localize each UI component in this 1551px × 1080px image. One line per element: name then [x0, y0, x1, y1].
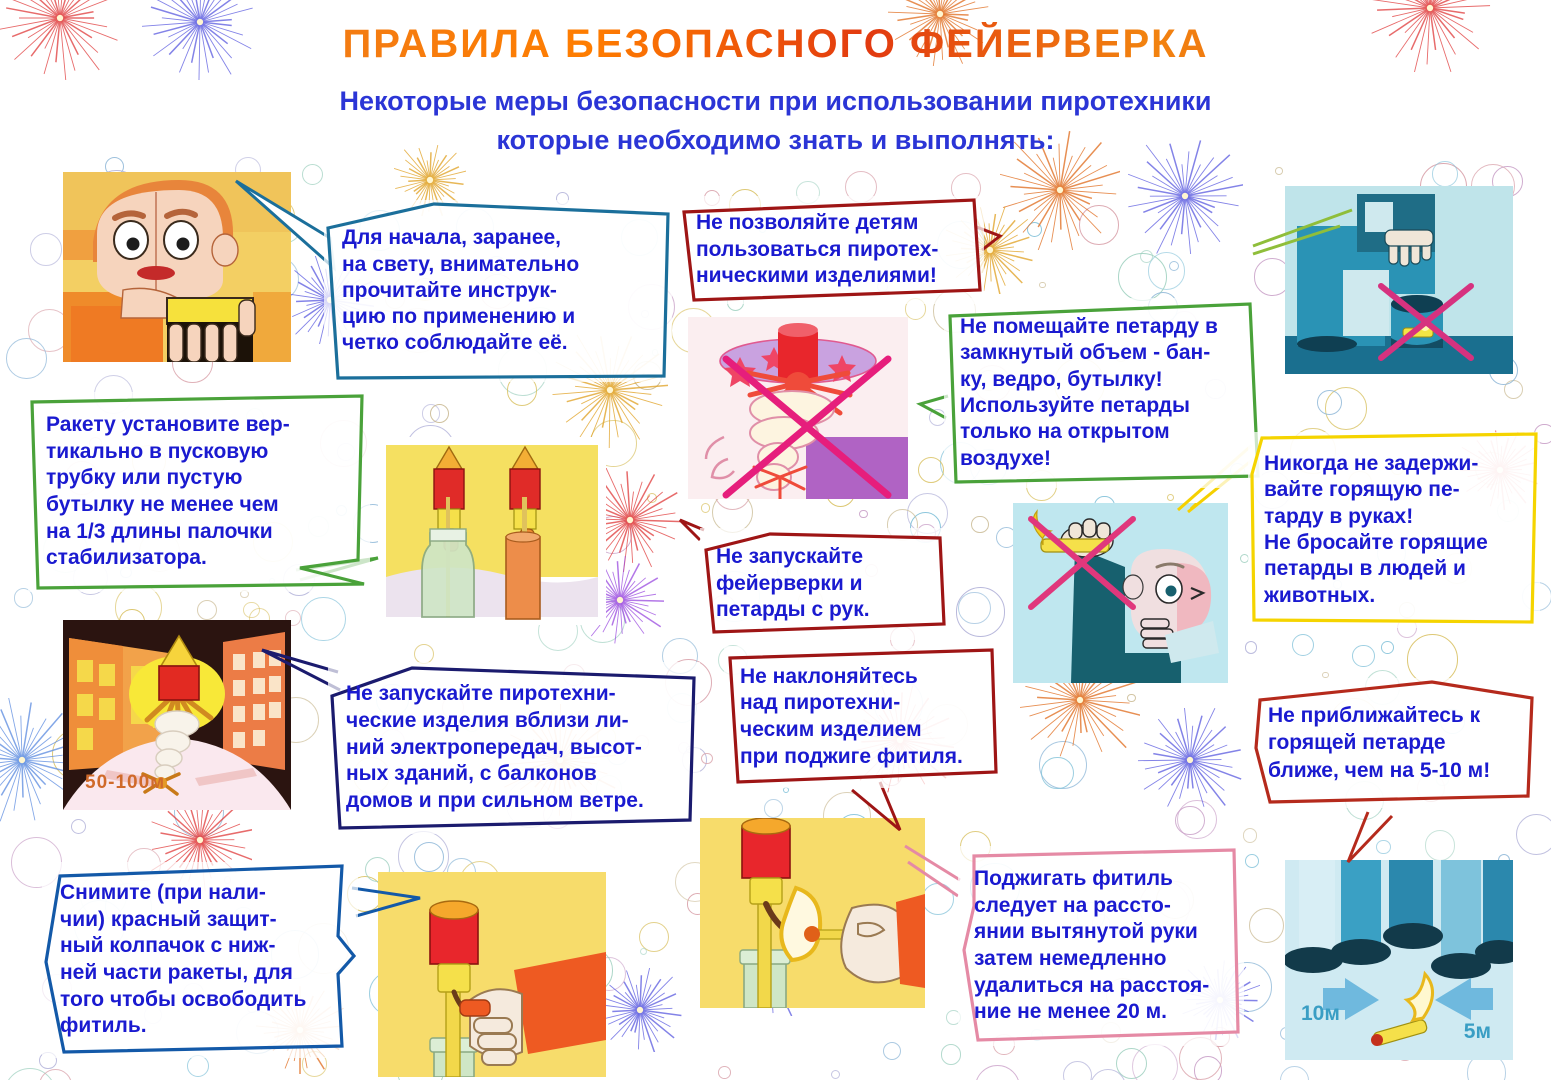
page-title: ПРАВИЛА БЕЗОПАСНОГО ФЕЙЕРВЕРКА	[0, 22, 1551, 67]
bubble-light-at-arms-length: Поджигать фитиль следует на рассто- янии…	[958, 846, 1244, 1046]
bubble-light-at-arms-length-text: Поджигать фитиль следует на рассто- янии…	[974, 866, 1228, 1026]
subtitle-line-1: Некоторые меры безопасности при использо…	[0, 82, 1551, 121]
bubble-rocket-vertical-text: Ракету установите вер- тикально в пусков…	[46, 412, 352, 572]
bubble-keep-distance: Не приближайтесь к горящей петарде ближе…	[1252, 678, 1538, 808]
bubble-rocket-vertical: Ракету установите вер- тикально в пусков…	[28, 392, 370, 592]
bubble-dont-lean-over-text: Не наклоняйтесь над пиротехни- ческим из…	[740, 664, 984, 771]
subtitle-line-2: которые необходимо знать и выполнять:	[0, 121, 1551, 160]
bubble-no-closed-container-text: Не помещайте петарду в замкнутый объем -…	[960, 314, 1246, 473]
bubble-never-hold-burning-text: Никогда не задержи- вайте горящую пе- та…	[1264, 451, 1524, 610]
bubble-never-hold-burning: Никогда не задержи- вайте горящую пе- та…	[1248, 432, 1540, 628]
bubble-no-closed-container: Не помещайте петарду в замкнутый объем -…	[944, 298, 1262, 488]
bubble-keep-distance-text: Не приближайтесь к горящей петарде ближе…	[1268, 702, 1522, 783]
bubble-no-children: Не позволяйте детям пользоваться пиротех…	[678, 196, 984, 304]
bubble-remove-red-cap-text: Снимите (при нали- чии) красный защит- н…	[60, 880, 340, 1040]
bubble-read-instructions-text: Для начала, заранее, на светy, вниматель…	[342, 225, 654, 356]
bubble-no-powerlines-text: Не запускайте пиротехни- ческие изделия …	[346, 681, 682, 814]
bubble-no-launch-from-hands: Не запускайте фейерверки и петарды с рук…	[700, 528, 948, 640]
bubble-no-launch-from-hands-text: Не запускайте фейерверки и петарды с рук…	[716, 544, 932, 625]
bubble-dont-lean-over: Не наклоняйтесь над пиротехни- ческим из…	[724, 646, 1000, 788]
page-subtitle: Некоторые меры безопасности при использо…	[0, 82, 1551, 160]
bubble-no-powerlines: Не запускайте пиротехни- ческие изделия …	[328, 662, 700, 834]
safety-poster: ПРАВИЛА БЕЗОПАСНОГО ФЕЙЕРВЕРКА Некоторые…	[0, 0, 1551, 1080]
bubble-no-children-text: Не позволяйте детям пользоваться пиротех…	[696, 210, 966, 289]
bubble-remove-red-cap: Снимите (при нали- чии) красный защит- н…	[42, 862, 358, 1058]
bubble-read-instructions: Для начала, заранее, на светy, вниматель…	[324, 200, 672, 382]
